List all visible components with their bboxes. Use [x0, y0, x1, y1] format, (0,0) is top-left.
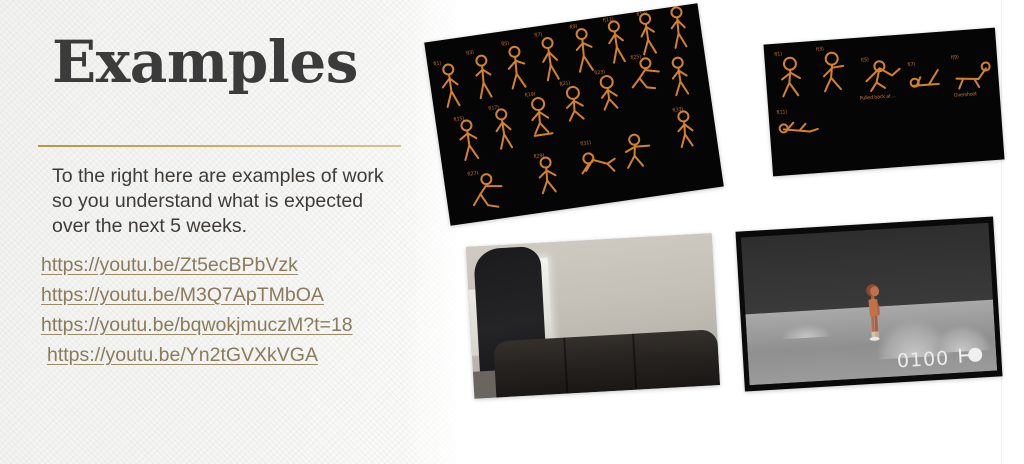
presentation-slide: Examples To the right here are examples …	[0, 0, 1024, 464]
storyboard-strip: f(1) f(3) f(5) f(7) f(9) f(11) Pulled ba…	[763, 28, 1004, 177]
image-storyboard-sheet-small[interactable]: f(1) f(3) f(5) f(7) f(9) f(11) Pulled ba…	[763, 28, 1004, 177]
reference-couch	[493, 329, 720, 398]
image-storyboard-sheet-large[interactable]: f(1) f(3) f(5) f(7) f(9) f(11) f(13) f(1…	[424, 3, 724, 225]
couch-seam	[563, 337, 568, 393]
image-live-action-reference[interactable]	[466, 233, 720, 398]
couch-seam	[632, 334, 637, 390]
render-character	[860, 278, 886, 350]
playhead-icon	[957, 344, 984, 366]
render-viewport: 0100	[741, 223, 997, 385]
storyboard-figures-svg	[424, 3, 724, 225]
slide-right-edge	[1001, 0, 1002, 464]
image-3d-render-playblast[interactable]: 0100	[735, 216, 1002, 391]
image-gallery: f(1) f(3) f(5) f(7) f(9) f(11) f(13) f(1…	[0, 0, 1024, 464]
storyboard-figure-grid: f(1) f(3) f(5) f(7) f(9) f(11) f(13) f(1…	[424, 3, 724, 225]
storyboard-strip-svg	[763, 28, 1004, 177]
render-timecode: 0100	[896, 347, 950, 372]
